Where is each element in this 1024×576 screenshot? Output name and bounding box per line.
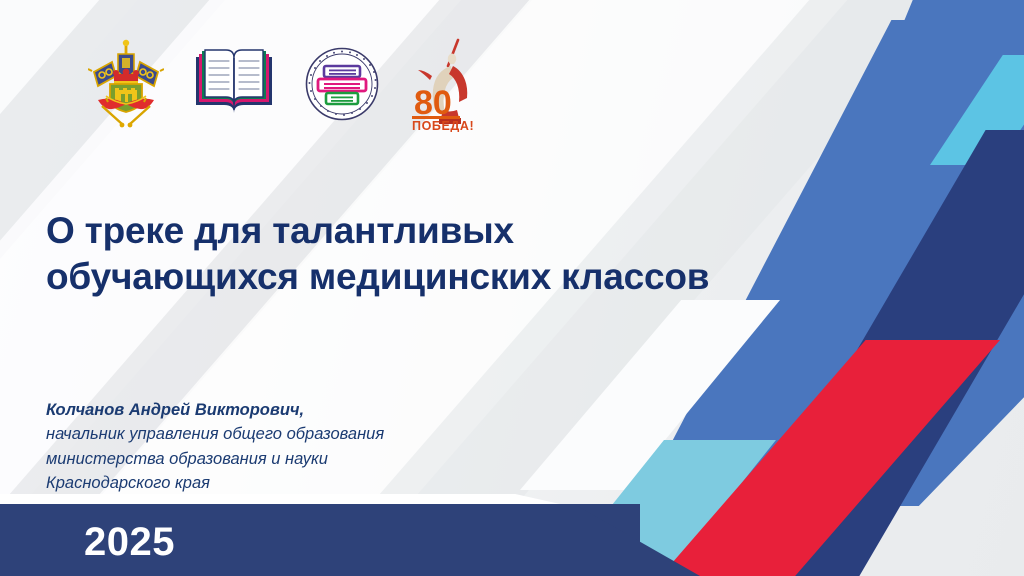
bottom-bar-sliver — [0, 494, 560, 504]
victory-caption: ПОБЕДА! — [412, 119, 474, 132]
logo-row: 80 ПОБЕДА! — [88, 36, 488, 132]
speaker-position-line-1: начальник управления общего образования — [46, 422, 516, 446]
speaker-position-line-2: министерства образования и науки — [46, 447, 516, 471]
open-book-icon — [192, 47, 276, 121]
institute-of-education-development-emblem-icon — [304, 46, 380, 122]
title-line-1: О треке для талантливых — [46, 208, 786, 254]
speaker-block: Колчанов Андрей Викторович, начальник уп… — [46, 398, 516, 496]
speaker-position-line-3: Краснодарского края — [46, 471, 516, 495]
year-label: 2025 — [84, 522, 175, 562]
victory-80-anniversary-icon: 80 ПОБЕДА! — [408, 36, 488, 132]
krasnodar-krai-coat-of-arms-icon — [88, 38, 164, 130]
speaker-name: Колчанов Андрей Викторович, — [46, 398, 516, 422]
presentation-slide: 80 ПОБЕДА! О треке для талантливых обуча… — [0, 0, 1024, 576]
title-line-2: обучающихся медицинских классов — [46, 254, 786, 300]
page-title: О треке для талантливых обучающихся меди… — [46, 208, 786, 301]
